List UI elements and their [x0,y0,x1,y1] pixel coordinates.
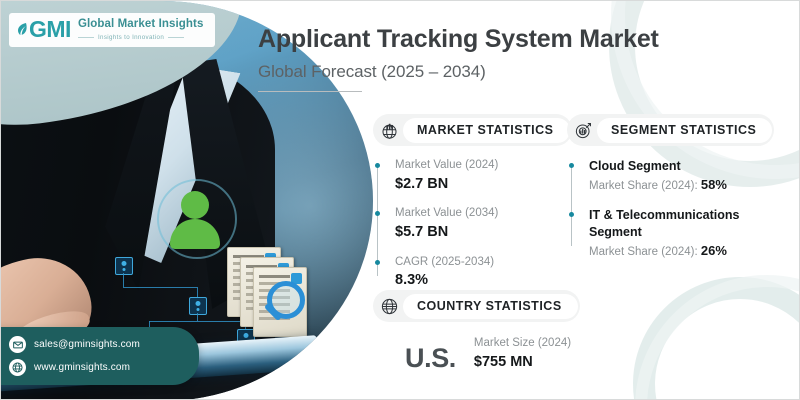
list-item: CAGR (2025-2034) 8.3% [395,255,572,290]
logo-wordmark: Global Market Insights Insights to Innov… [78,18,204,41]
contact-email-row[interactable]: sales@gminsights.com [9,336,185,353]
country-metric-label: Market Size (2024) [474,336,571,352]
logo-mark-text: GMI [29,18,71,41]
segment-metric-label: Market Share (2024): [589,246,701,258]
panel-market-statistics: MARKET STATISTICS Market Value (2024) $2… [373,114,572,290]
segment-metric: Market Share (2024): 58% [589,176,774,194]
decorative-arc-bottom-right-outer [635,275,800,400]
globe-icon [9,359,26,376]
stat-label: CAGR (2025-2034) [395,255,572,271]
org-connector [123,287,197,288]
logo-company-name: Global Market Insights [78,18,204,31]
panel-country-statistics: COUNTRY STATISTICS U.S. Market Size (202… [373,290,580,372]
envelope-icon [9,336,26,353]
panel-segment-statistics: SEGMENT STATISTICS Cloud Segment Market … [567,114,774,260]
panel-market-header: MARKET STATISTICS [373,114,572,146]
panel-segment-header: SEGMENT STATISTICS [567,114,774,146]
panel-country-title: COUNTRY STATISTICS [403,294,578,319]
org-connector [197,287,198,297]
org-node [115,257,133,275]
logo-tagline: Insights to Innovation [98,34,164,41]
list-item: Cloud Segment Market Share (2024): 58% [589,158,774,194]
contact-website: www.gminsights.com [34,362,130,373]
stat-label: Market Value (2034) [395,206,572,222]
org-connector [149,321,245,322]
page-title: Applicant Tracking System Market [258,25,659,54]
org-node [189,297,207,315]
brand-logo[interactable]: GMI Global Market Insights Insights to I… [9,13,215,47]
segment-metric-label: Market Share (2024): [589,180,701,192]
stat-label: Market Value (2024) [395,158,572,174]
org-connector [197,313,198,321]
globe-icon [375,292,403,320]
decorative-arc-bottom-right [633,277,800,400]
logo-tagline-rule-right [168,37,184,38]
stat-value: $5.7 BN [395,223,572,242]
stat-value: 8.3% [395,271,572,290]
contact-panel: sales@gminsights.com www.gminsights.com [0,327,199,385]
list-item: Market Value (2034) $5.7 BN [395,206,572,241]
country-code: U.S. [405,345,456,372]
person-icon-head [181,191,209,219]
segment-metric-value: 26% [701,243,727,258]
segment-name: IT & Telecommunications Segment [589,207,751,241]
country-metric: Market Size (2024) $755 MN [474,336,571,372]
panel-segment-title: SEGMENT STATISTICS [597,118,772,143]
gmi-logo-mark: GMI [17,18,71,41]
stat-value: $2.7 BN [395,175,572,194]
list-item: Market Value (2024) $2.7 BN [395,158,572,193]
leaf-icon [17,22,28,37]
logo-tagline-rule-left [78,37,94,38]
title-underline [258,91,362,92]
segment-metric: Market Share (2024): 26% [589,242,774,260]
panel-country-header: COUNTRY STATISTICS [373,290,580,322]
infographic-canvas: GMI Global Market Insights Insights to I… [0,0,800,400]
org-connector [123,273,124,287]
contact-website-row[interactable]: www.gminsights.com [9,359,185,376]
segment-metric-value: 58% [701,177,727,192]
list-item: IT & Telecommunications Segment Market S… [589,207,774,260]
target-growth-icon [569,116,597,144]
page-subtitle: Global Forecast (2025 – 2034) [258,62,659,82]
logo-tagline-row: Insights to Innovation [78,34,204,41]
globe-bar-chart-icon [375,116,403,144]
contact-email: sales@gminsights.com [34,339,140,350]
country-metric-value: $755 MN [474,353,571,372]
panel-market-title: MARKET STATISTICS [403,118,570,143]
title-block: Applicant Tracking System Market Global … [258,25,659,92]
segment-statistics-list: Cloud Segment Market Share (2024): 58% I… [567,158,774,260]
segment-name: Cloud Segment [589,158,774,175]
country-statistics-row: U.S. Market Size (2024) $755 MN [373,336,580,372]
market-statistics-list: Market Value (2024) $2.7 BN Market Value… [373,158,572,290]
